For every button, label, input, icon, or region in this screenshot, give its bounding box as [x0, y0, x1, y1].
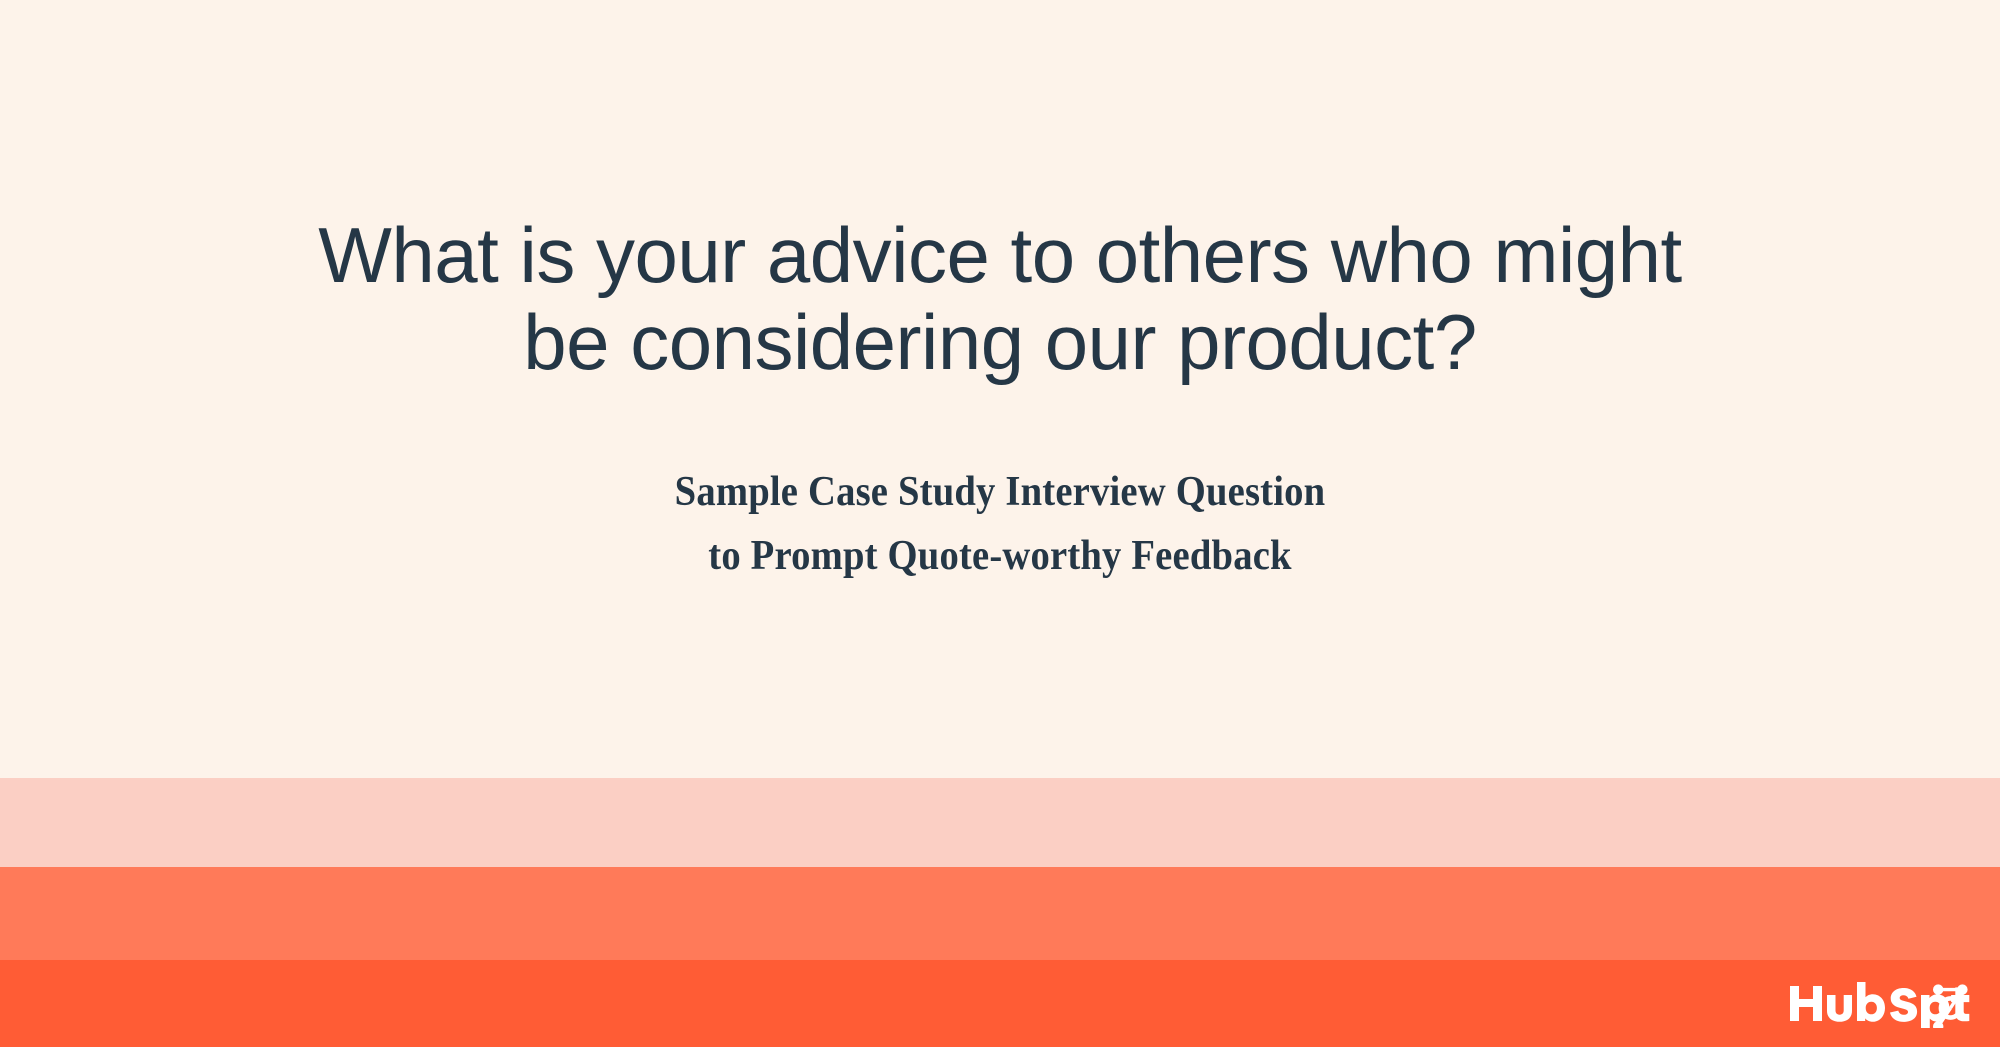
color-band-pink [0, 778, 2000, 867]
hubspot-logo [1788, 972, 1974, 1028]
page-title: What is your advice to others who might … [100, 212, 1900, 387]
color-band-coral [0, 867, 2000, 960]
subtitle-line-1: Sample Case Study Interview Question [310, 461, 1690, 525]
slide-canvas: What is your advice to others who might … [0, 0, 2000, 1047]
headline-line-1: What is your advice to others who might [100, 212, 1900, 299]
color-band-red [0, 960, 2000, 1047]
headline-line-2: be considering our product? [100, 299, 1900, 386]
subtitle-line-2: to Prompt Quote-worthy Feedback [310, 525, 1690, 589]
slide-content: What is your advice to others who might … [0, 0, 2000, 778]
page-subtitle: Sample Case Study Interview Question to … [310, 461, 1690, 589]
